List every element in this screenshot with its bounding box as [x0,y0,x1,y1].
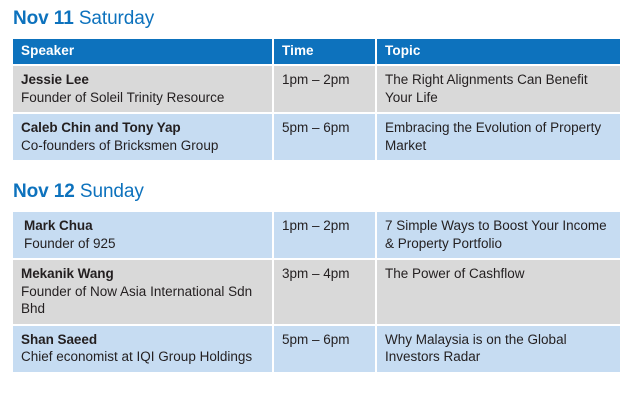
day-heading-nov-11: Nov 11 Saturday [13,0,614,37]
cell-topic: The Right Alignments Can Benefit Your Li… [377,66,620,112]
table-header-row: Speaker Time Topic [13,39,620,64]
table-row: Mekanik Wang Founder of Now Asia Interna… [13,260,620,324]
cell-topic: The Power of Cashflow [377,260,620,324]
speaker-role: Founder of Now Asia International Sdn Bh… [21,283,264,318]
cell-speaker: Mark Chua Founder of 925 [13,212,272,258]
table-row: Mark Chua Founder of 925 1pm – 2pm 7 Sim… [13,212,620,258]
cell-time: 1pm – 2pm [274,212,375,258]
day-date: Nov 11 [13,8,74,29]
schedule-page: Nov 11 Saturday Speaker Time Topic Jessi… [0,0,627,419]
cell-time: 3pm – 4pm [274,260,375,324]
cell-time: 5pm – 6pm [274,114,375,160]
cell-time: 5pm – 6pm [274,326,375,372]
speaker-name: Jessie Lee [21,71,264,89]
speaker-role: Founder of Soleil Trinity Resource [21,89,264,107]
speaker-name: Mark Chua [24,217,264,235]
speaker-role: Chief economist at IQI Group Holdings [21,348,264,366]
table-row: Shan Saeed Chief economist at IQI Group … [13,326,620,372]
schedule-table-nov-11: Speaker Time Topic Jessie Lee Founder of… [11,37,622,162]
speaker-name: Shan Saeed [21,331,264,349]
cell-topic: 7 Simple Ways to Boost Your Income & Pro… [377,212,620,258]
column-header-time: Time [274,39,375,64]
column-header-topic: Topic [377,39,620,64]
column-header-speaker: Speaker [13,39,272,64]
speaker-role: Co-founders of Bricksmen Group [21,137,264,155]
speaker-name: Mekanik Wang [21,265,264,283]
cell-topic: Embracing the Evolution of Property Mark… [377,114,620,160]
day-date: Nov 12 [13,181,75,202]
cell-speaker: Jessie Lee Founder of Soleil Trinity Res… [13,66,272,112]
table-row: Jessie Lee Founder of Soleil Trinity Res… [13,66,620,112]
day-weekday: Saturday [79,8,154,29]
day-weekday: Sunday [80,181,144,202]
cell-speaker: Mekanik Wang Founder of Now Asia Interna… [13,260,272,324]
cell-topic: Why Malaysia is on the Global Investors … [377,326,620,372]
cell-speaker: Shan Saeed Chief economist at IQI Group … [13,326,272,372]
day-heading-nov-12: Nov 12 Sunday [13,162,614,210]
speaker-name: Caleb Chin and Tony Yap [21,119,264,137]
speaker-role: Founder of 925 [24,235,264,253]
table-row: Caleb Chin and Tony Yap Co-founders of B… [13,114,620,160]
cell-speaker: Caleb Chin and Tony Yap Co-founders of B… [13,114,272,160]
schedule-table-nov-12: Mark Chua Founder of 925 1pm – 2pm 7 Sim… [11,210,622,374]
cell-time: 1pm – 2pm [274,66,375,112]
